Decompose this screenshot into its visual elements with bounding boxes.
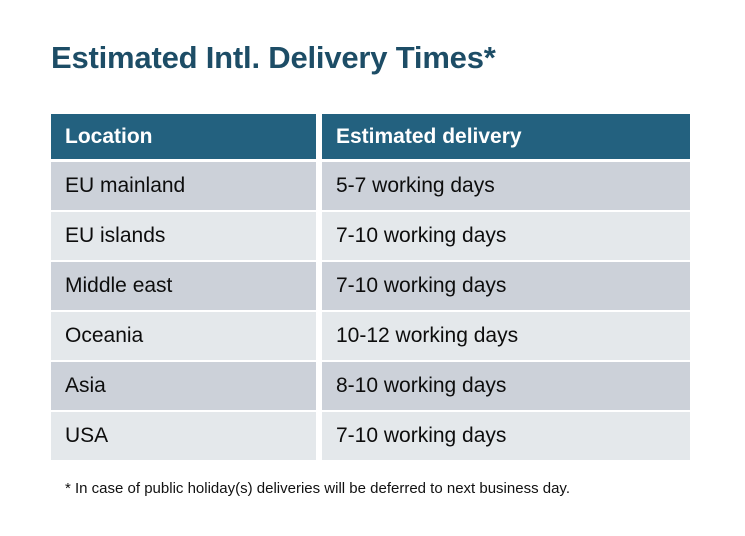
table-row: EU islands 7-10 working days [51, 212, 690, 260]
table-row: Middle east 7-10 working days [51, 262, 690, 310]
column-header-estimated-delivery: Estimated delivery [322, 114, 690, 159]
cell-estimated-delivery: 8-10 working days [322, 362, 690, 410]
cell-estimated-delivery: 5-7 working days [322, 162, 690, 210]
table-row: Oceania 10-12 working days [51, 312, 690, 360]
cell-estimated-delivery: 7-10 working days [322, 212, 690, 260]
cell-estimated-delivery: 7-10 working days [322, 262, 690, 310]
page-title: Estimated Intl. Delivery Times* [51, 38, 496, 78]
delivery-times-table: Location Estimated delivery EU mainland … [51, 114, 690, 462]
footnote-text: * In case of public holiday(s) deliverie… [65, 479, 570, 499]
table-row: EU mainland 5-7 working days [51, 162, 690, 210]
cell-location: EU islands [51, 212, 316, 260]
table-row: USA 7-10 working days [51, 412, 690, 460]
cell-estimated-delivery: 7-10 working days [322, 412, 690, 460]
cell-location: Oceania [51, 312, 316, 360]
cell-estimated-delivery: 10-12 working days [322, 312, 690, 360]
cell-location: Middle east [51, 262, 316, 310]
delivery-times-card: Estimated Intl. Delivery Times* Location… [0, 0, 745, 536]
cell-location: USA [51, 412, 316, 460]
table-header-row: Location Estimated delivery [51, 114, 690, 159]
column-header-location: Location [51, 114, 316, 159]
table-row: Asia 8-10 working days [51, 362, 690, 410]
cell-location: Asia [51, 362, 316, 410]
cell-location: EU mainland [51, 162, 316, 210]
